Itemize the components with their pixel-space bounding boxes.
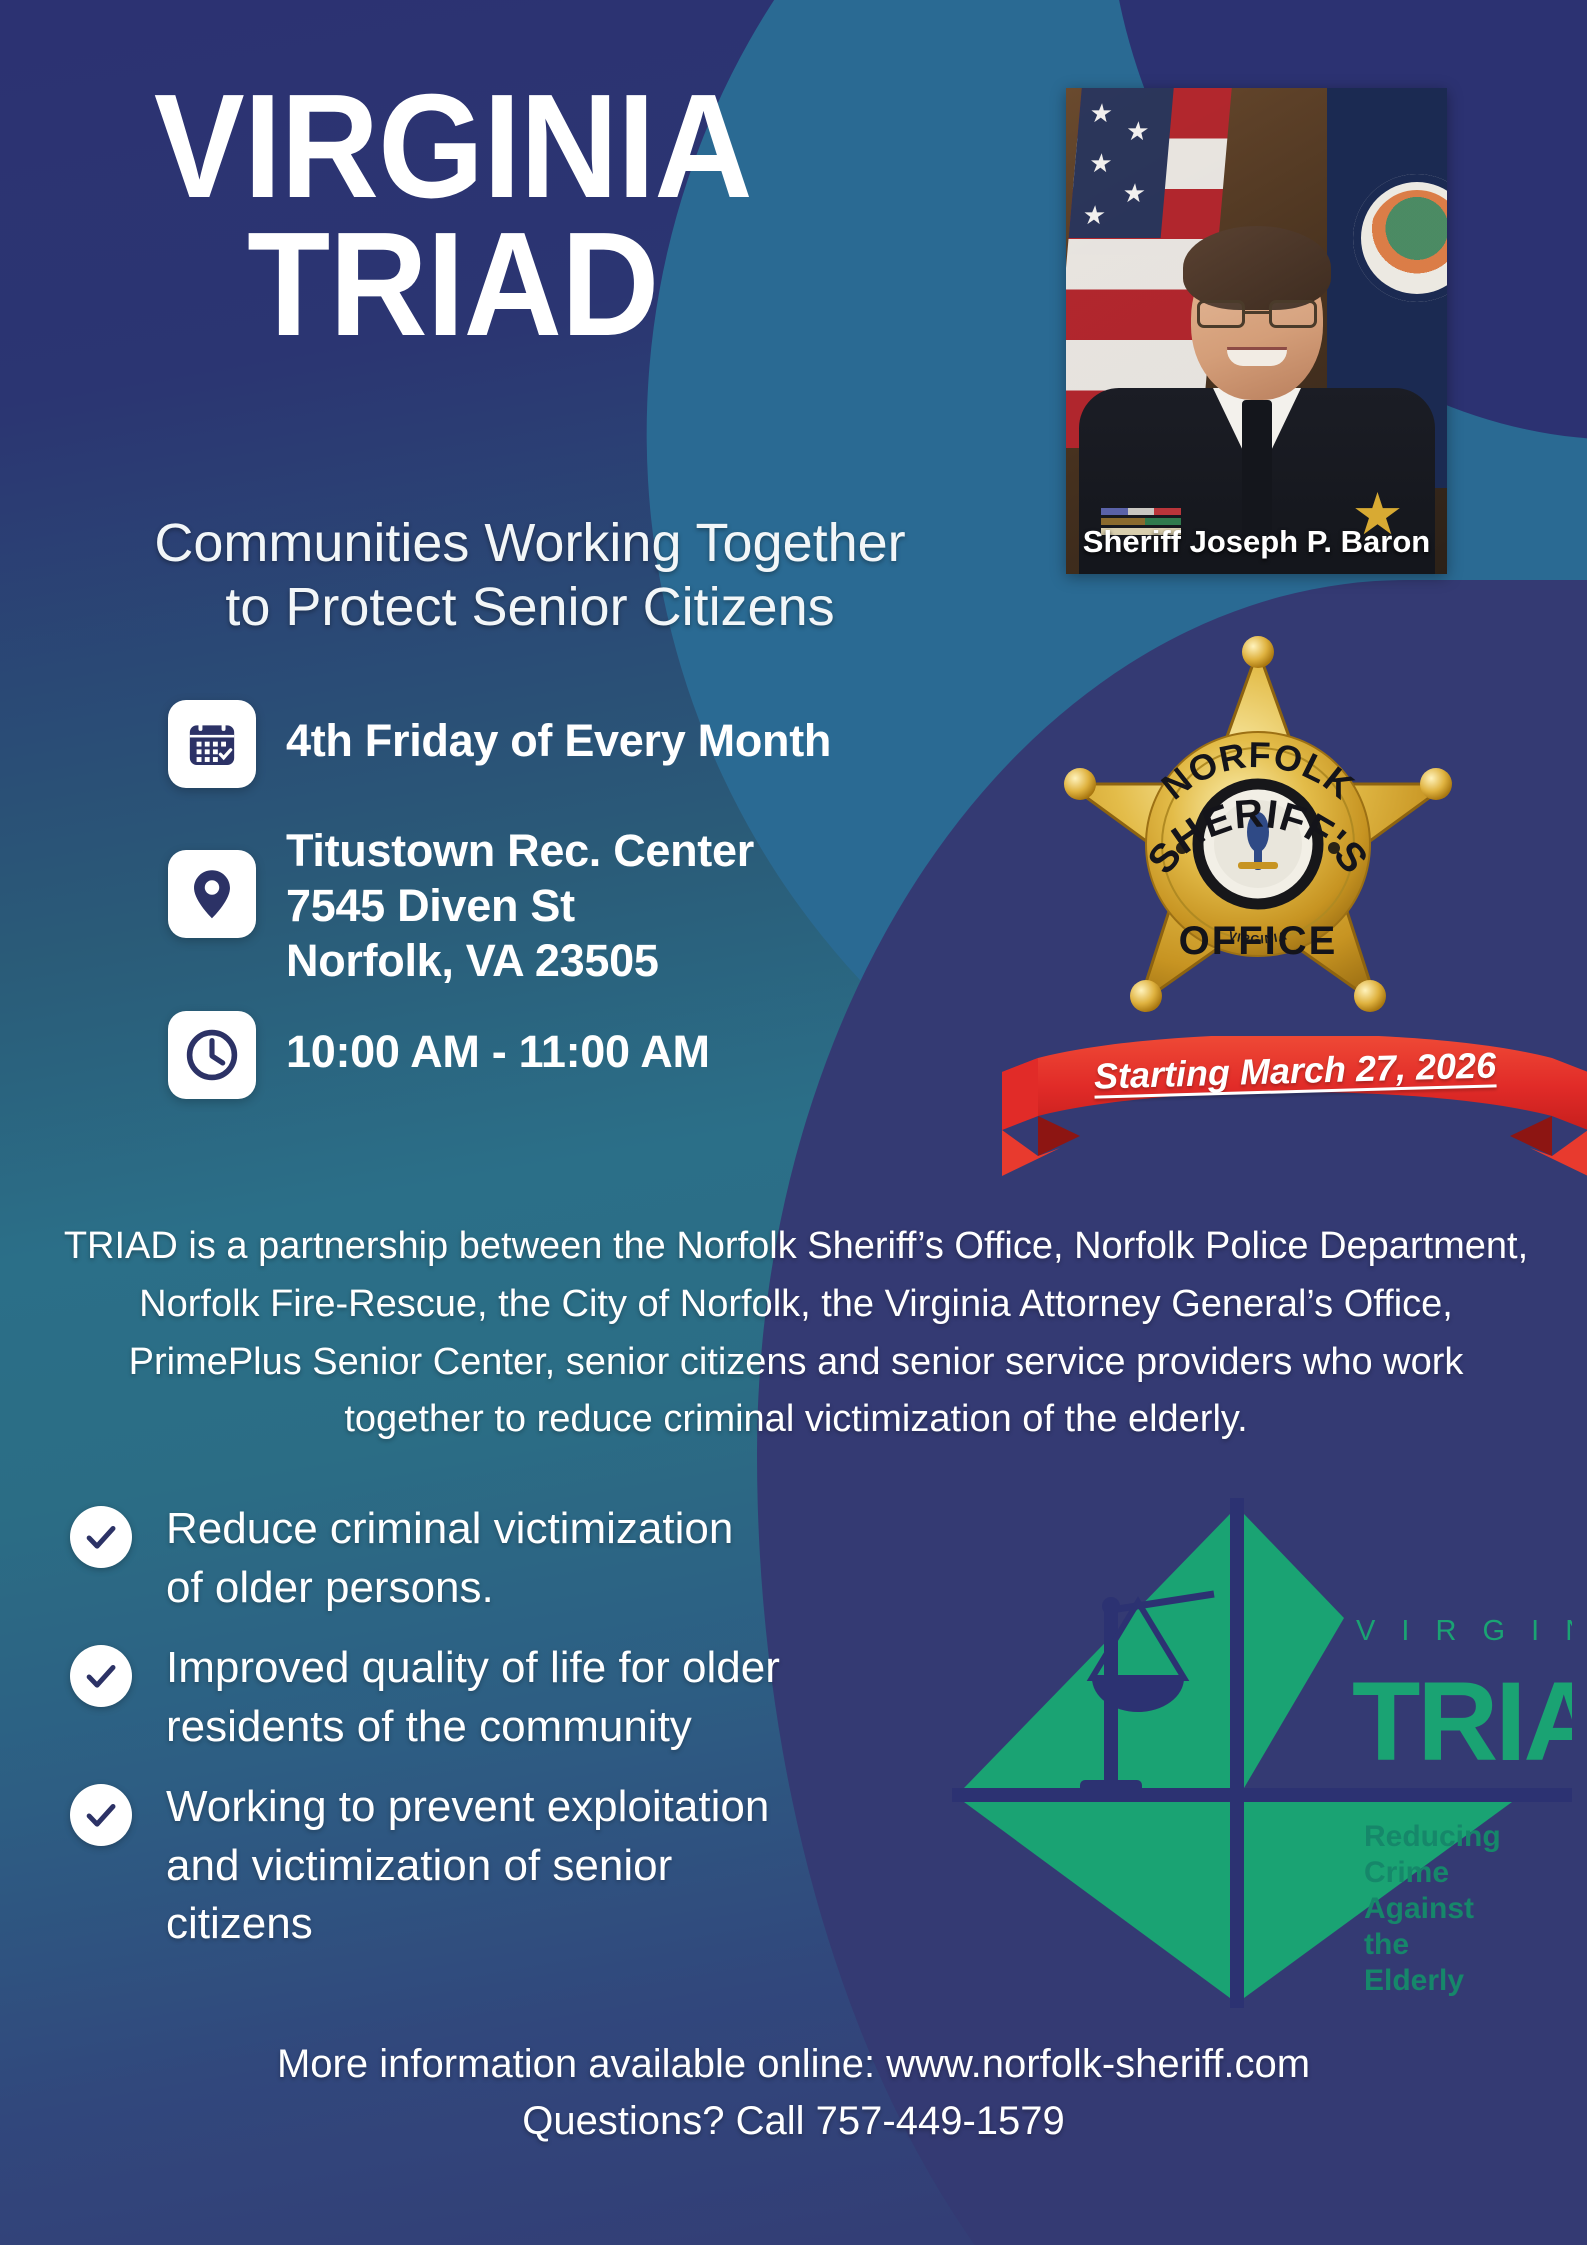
triad-tagline-line1: Reducing <box>1364 1820 1501 1853</box>
detail-text-time: 10:00 AM - 11:00 AM <box>286 1011 710 1080</box>
bullet3-line3: citizens <box>166 1895 769 1954</box>
detail-text-location: Titustown Rec. Center 7545 Diven St Norf… <box>286 810 754 989</box>
eyeglasses-icon <box>1197 300 1317 330</box>
bullet2-line2: residents of the community <box>166 1698 780 1757</box>
page-title-line2: TRIAD <box>48 216 858 354</box>
virginia-triad-logo: V I R G I N I A TRIAD Reducing Crime Aga… <box>952 1498 1572 2008</box>
checkmark-icon <box>70 1645 132 1707</box>
goals-list: Reduce criminal victimization of older p… <box>70 1500 1030 1976</box>
bullet2-line1: Improved quality of life for older <box>166 1639 780 1698</box>
list-item-text: Working to prevent exploitation and vict… <box>166 1778 769 1954</box>
calendar-icon <box>168 700 256 788</box>
detail-date-line1: 4th Friday of Every Month <box>286 714 831 769</box>
footer-website-line: More information available online: www.n… <box>277 2042 1310 2086</box>
bullet3-line2: and victimization of senior <box>166 1837 769 1896</box>
detail-location-line3: Norfolk, VA 23505 <box>286 934 754 989</box>
detail-location-line2: 7545 Diven St <box>286 879 754 934</box>
flyer-canvas: VIRGINIA TRIAD Communities Working Toget… <box>0 0 1587 2245</box>
detail-row-time: 10:00 AM - 11:00 AM <box>168 1011 988 1099</box>
list-item-text: Improved quality of life for older resid… <box>166 1639 780 1756</box>
detail-row-location: Titustown Rec. Center 7545 Diven St Norf… <box>168 810 988 989</box>
page-subtitle-line1: Communities Working Together <box>154 513 905 573</box>
page-subtitle: Communities Working Together to Protect … <box>30 512 1030 639</box>
triad-logo-virginia-word: V I R G I N I A <box>1356 1615 1572 1647</box>
virginia-seal-icon <box>1353 174 1447 302</box>
detail-time-line1: 10:00 AM - 11:00 AM <box>286 1025 710 1080</box>
start-date-ribbon: Starting March 27, 2026 <box>1002 1036 1587 1176</box>
bullet1-line2: of older persons. <box>166 1559 733 1618</box>
triad-tagline-line2: Crime <box>1364 1856 1449 1889</box>
bullet3-line1: Working to prevent exploitation <box>166 1778 769 1837</box>
location-pin-icon <box>168 850 256 938</box>
norfolk-sheriff-star-badge-icon: VIRGINIA NORFOLK SHERIFF'S OFFICE <box>1058 636 1458 1036</box>
clock-icon <box>168 1011 256 1099</box>
event-details-list: 4th Friday of Every Month Titustown Rec.… <box>168 700 988 1121</box>
footer-phone-line: Questions? Call 757-449-1579 <box>60 2093 1527 2150</box>
page-title: VIRGINIA TRIAD <box>48 78 858 353</box>
us-flag-canton: ★ ★ ★ ★ ★ <box>1069 88 1174 238</box>
badge-bottom-text: OFFICE <box>1179 919 1338 963</box>
list-item: Improved quality of life for older resid… <box>70 1639 1030 1756</box>
bullet1-line1: Reduce criminal victimization <box>166 1500 733 1559</box>
triad-tagline-line5: Elderly <box>1364 1964 1464 1997</box>
sheriff-portrait-photo: ★ ★ ★ ★ ★ ★ S <box>1066 88 1447 574</box>
detail-text-date: 4th Friday of Every Month <box>286 700 831 769</box>
detail-location-line1: Titustown Rec. Center <box>286 824 754 879</box>
photo-caption: Sheriff Joseph P. Baron <box>1066 524 1447 560</box>
triad-tagline-line3: Against <box>1364 1892 1474 1925</box>
checkmark-icon <box>70 1784 132 1846</box>
detail-row-date: 4th Friday of Every Month <box>168 700 988 788</box>
partnership-description: TRIAD is a partnership between the Norfo… <box>56 1218 1536 1449</box>
list-item: Reduce criminal victimization of older p… <box>70 1500 1030 1617</box>
triad-tagline-line4: the <box>1364 1928 1409 1961</box>
list-item-text: Reduce criminal victimization of older p… <box>166 1500 733 1617</box>
triad-logo-triad-word: TRIAD <box>1352 1659 1572 1784</box>
page-subtitle-line2: to Protect Senior Citizens <box>30 576 1030 640</box>
footer-contact: More information available online: www.n… <box>60 2036 1527 2150</box>
list-item: Working to prevent exploitation and vict… <box>70 1778 1030 1954</box>
checkmark-icon <box>70 1506 132 1568</box>
hair <box>1183 226 1331 310</box>
smile <box>1227 350 1287 366</box>
